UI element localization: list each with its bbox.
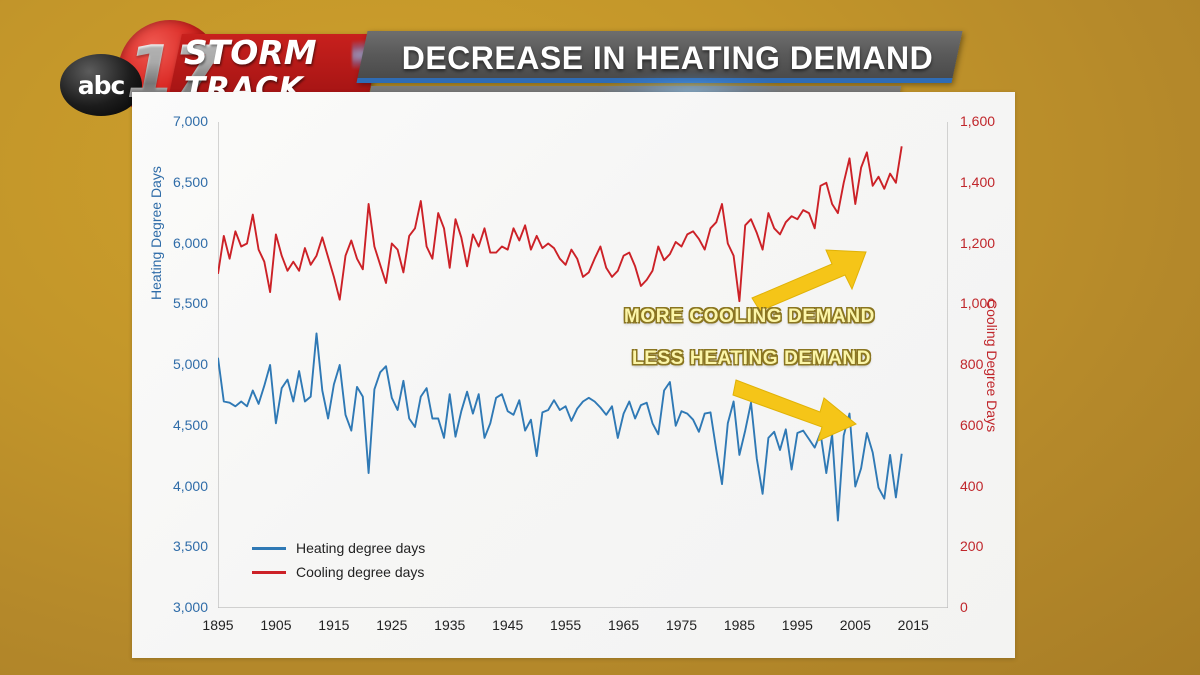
y-axis-left-tick-label: 7,000 [146,113,208,129]
y-axis-left-tick-label: 3,000 [146,599,208,615]
x-axis-tick-label: 2015 [888,617,938,633]
x-axis-tick-label: 1965 [599,617,649,633]
x-axis-tick-label: 2005 [830,617,880,633]
y-axis-right-tick-label: 1,000 [960,295,995,311]
x-axis-tick-label: 1985 [714,617,764,633]
y-axis-right-title: Cooling Degree Days [984,299,1000,432]
y-axis-right-tick-label: 1,200 [960,235,995,251]
cooling-degree-days-line [218,146,902,301]
legend-label-cooling: Cooling degree days [296,564,424,580]
annotation-less-heating: LESS HEATING DEMAND [632,348,871,370]
y-axis-left-tick-label: 5,000 [146,356,208,372]
y-axis-right-tick-label: 200 [960,538,983,554]
annotation-more-cooling: MORE COOLING DEMAND [624,306,875,328]
y-axis-left-tick-label: 3,500 [146,538,208,554]
page-title: DECREASE IN HEATING DEMAND [380,36,955,80]
x-axis-tick-label: 1905 [251,617,301,633]
y-axis-left-tick-label: 4,500 [146,417,208,433]
legend-label-heating: Heating degree days [296,540,425,556]
y-axis-left-tick-label: 6,000 [146,235,208,251]
x-axis-tick-label: 1925 [367,617,417,633]
y-axis-right-tick-label: 0 [960,599,968,615]
legend-item-heating[interactable]: Heating degree days [252,536,425,560]
legend-item-cooling[interactable]: Cooling degree days [252,560,425,584]
y-axis-right-tick-label: 800 [960,356,983,372]
legend-swatch-cooling [252,571,286,574]
x-axis-tick-label: 1935 [425,617,475,633]
y-axis-right-tick-label: 600 [960,417,983,433]
chart-legend: Heating degree days Cooling degree days [252,536,425,584]
y-axis-left-tick-label: 5,500 [146,295,208,311]
y-axis-right-tick-label: 1,400 [960,174,995,190]
x-axis-tick-label: 1915 [309,617,359,633]
y-axis-left-tick-label: 6,500 [146,174,208,190]
y-axis-right-tick-label: 1,600 [960,113,995,129]
legend-swatch-heating [252,547,286,550]
x-axis-tick-label: 1975 [656,617,706,633]
x-axis-tick-label: 1955 [541,617,591,633]
y-axis-left-tick-label: 4,000 [146,478,208,494]
x-axis-tick-label: 1945 [483,617,533,633]
x-axis-tick-label: 1995 [772,617,822,633]
y-axis-right-tick-label: 400 [960,478,983,494]
x-axis-tick-label: 1895 [193,617,243,633]
